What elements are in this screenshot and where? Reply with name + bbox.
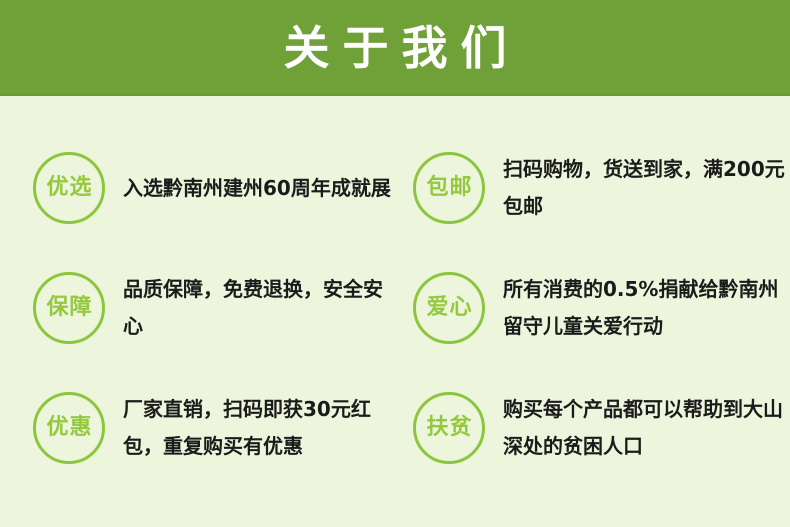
feature-item-优选: 优选 入选黔南州建州60周年成就展 xyxy=(0,128,396,248)
feature-list: 优选 入选黔南州建州60周年成就展 包邮 扫码购物，货送到家，满200元包邮 保… xyxy=(0,98,790,527)
badge-label: 优惠 xyxy=(45,417,92,439)
badge-circle-优惠: 优惠 xyxy=(33,392,105,464)
badge-circle-扶贫: 扶贫 xyxy=(413,392,485,464)
feature-item-优惠: 优惠 厂家直销，扫码即获30元红包，重复购买有优惠 xyxy=(0,368,396,488)
badge-label: 爱心 xyxy=(425,297,472,319)
badge-circle-保障: 保障 xyxy=(33,272,105,344)
badge-circle-优选: 优选 xyxy=(33,152,105,224)
feature-description: 入选黔南州建州60周年成就展 xyxy=(123,170,391,207)
page-title: 关于我们 xyxy=(0,0,790,96)
feature-description: 所有消费的0.5%捐献给黔南州留守儿童关爱行动 xyxy=(503,271,790,345)
badge-label: 保障 xyxy=(45,297,92,319)
feature-description: 品质保障，免费退换，安全安心 xyxy=(123,271,396,345)
feature-item-扶贫: 扶贫 购买每个产品都可以帮助到大山深处的贫困人口 xyxy=(396,368,790,488)
badge-circle-爱心: 爱心 xyxy=(413,272,485,344)
badge-label: 包邮 xyxy=(425,177,472,199)
badge-label: 优选 xyxy=(45,177,92,199)
feature-description: 购买每个产品都可以帮助到大山深处的贫困人口 xyxy=(503,391,790,465)
feature-item-保障: 保障 品质保障，免费退换，安全安心 xyxy=(0,248,396,368)
about-us-page: 关于我们 优选 入选黔南州建州60周年成就展 包邮 扫码购物，货送到家，满200… xyxy=(0,0,790,527)
feature-item-包邮: 包邮 扫码购物，货送到家，满200元包邮 xyxy=(396,128,790,248)
feature-description: 厂家直销，扫码即获30元红包，重复购买有优惠 xyxy=(123,391,396,465)
badge-label: 扶贫 xyxy=(425,417,472,439)
feature-description: 扫码购物，货送到家，满200元包邮 xyxy=(503,151,790,225)
page-header-banner: 关于我们 xyxy=(0,0,790,96)
badge-circle-包邮: 包邮 xyxy=(413,152,485,224)
feature-item-爱心: 爱心 所有消费的0.5%捐献给黔南州留守儿童关爱行动 xyxy=(396,248,790,368)
